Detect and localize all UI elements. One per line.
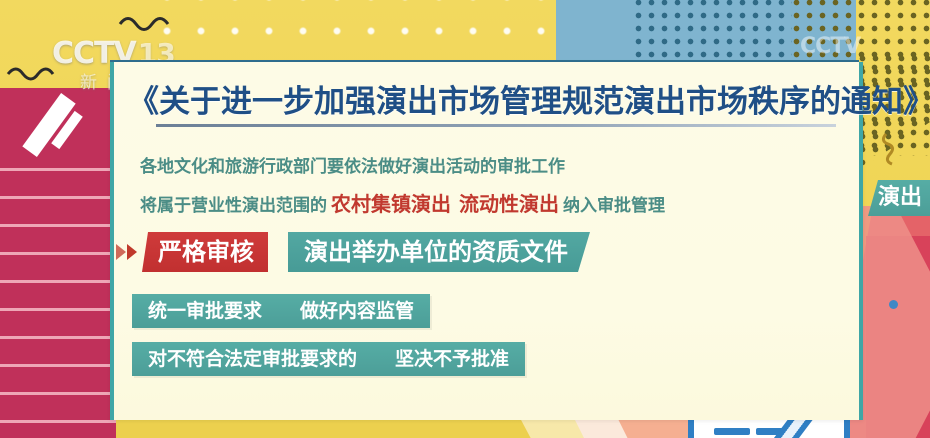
chevron-right-icon-1 — [116, 244, 126, 260]
page-title: 《关于进一步加强演出市场管理规范演出市场秩序的通知》 — [128, 76, 848, 121]
highlight-term-2: 流动性演出 — [455, 192, 563, 216]
banner-emphasis-label: 严格审核 — [142, 232, 268, 272]
body-line-2-prefix: 将属于营业性演出范围的 — [140, 196, 327, 216]
squiggle-icon-top — [118, 10, 188, 36]
info-row-2: 对不符合法定审批要求的 坚决不予批准 — [132, 342, 525, 376]
body-line-1: 各地文化和旅游行政部门要依法做好演出活动的审批工作 — [140, 152, 565, 177]
body-line-2: 将属于营业性演出范围的农村集镇演出流动性演出纳入审批管理 — [140, 188, 665, 217]
info-row-1: 统一审批要求 做好内容监管 — [132, 294, 430, 328]
clipboard-text-line-1 — [714, 428, 750, 435]
highlight-term-1: 农村集镇演出 — [327, 192, 455, 216]
body-line-2-suffix: 纳入审批管理 — [563, 196, 665, 216]
chevron-right-icon-2 — [127, 244, 137, 260]
broadcast-screen: CCTV13 新闻 CCTV 《关于进一步加强演出市场管理规范演出市场秩序的通知… — [0, 0, 930, 438]
cctv-watermark-secondary: CCTV — [800, 34, 860, 59]
side-tag-label: 演出 — [868, 180, 930, 216]
title-separator — [156, 124, 836, 127]
banner-detail-label: 演出举办单位的资质文件 — [288, 232, 590, 272]
squiggle-icon-right — [878, 130, 926, 170]
double-chevron-icon — [112, 238, 148, 266]
blue-dot-decor-5 — [889, 300, 898, 309]
